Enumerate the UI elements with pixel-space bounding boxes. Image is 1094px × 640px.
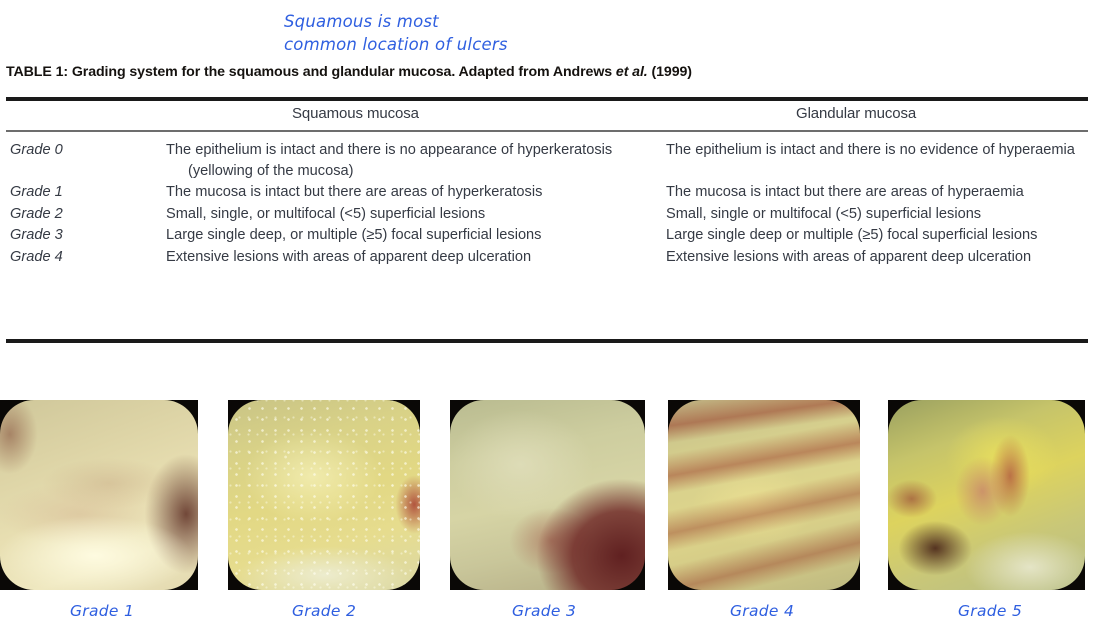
glandular-description: Small, single or multifocal (<5) superfi… [666,204,1088,225]
table-caption-etal: et al. [616,64,648,80]
grade-label: Grade 4 [6,247,166,268]
squamous-description: Small, single, or multifocal (<5) superf… [166,204,666,225]
table-body: Grade 0 The epithelium is intact and the… [6,140,1088,268]
grade-label: Grade 3 [6,225,166,246]
grade-label: Grade 0 [6,140,166,161]
glandular-description: The epithelium is intact and there is no… [666,140,1088,161]
table-caption-suffix: (1999) [648,64,692,80]
figure-label-grade-3: Grade 3 [512,602,576,620]
squamous-description: The mucosa is intact but there are areas… [166,182,666,203]
table-row: Grade 0 The epithelium is intact and the… [6,140,1088,181]
column-header-glandular: Glandular mucosa [796,105,916,122]
figure-grade-labels: Grade 1 Grade 2 Grade 3 Grade 4 Grade 5 [0,602,1094,632]
hyperkeratosis-speckles [228,400,420,590]
glandular-description: Extensive lesions with areas of apparent… [666,247,1088,268]
table-row: Grade 3 Large single deep, or multiple (… [6,225,1088,246]
squamous-description: The epithelium is intact and there is no… [166,140,666,181]
endoscopy-grade-1 [0,400,198,590]
endoscopy-grade-4 [668,400,860,590]
table-caption: TABLE 1: Grading system for the squamous… [6,64,692,80]
glandular-description: Large single deep or multiple (≥5) focal… [666,225,1088,246]
endoscopy-grade-2 [228,400,420,590]
endoscopy-grade-5 [888,400,1085,590]
table-rule-bottom [6,339,1088,343]
squamous-description: Extensive lesions with areas of apparent… [166,247,666,268]
endoscopy-image-content [450,400,645,590]
endoscopy-image-content [228,400,420,590]
squamous-description: Large single deep, or multiple (≥5) foca… [166,225,666,246]
table-rule-header [6,130,1088,132]
table-row: Grade 4 Extensive lesions with areas of … [6,247,1088,268]
endoscopy-image-content [668,400,860,590]
column-header-squamous: Squamous mucosa [292,105,419,122]
handwritten-annotation: Squamous is most common location of ulce… [284,10,508,56]
figure-label-grade-5: Grade 5 [958,602,1022,620]
grade-label: Grade 1 [6,182,166,203]
table-row: Grade 2 Small, single, or multifocal (<5… [6,204,1088,225]
glandular-description: The mucosa is intact but there are areas… [666,182,1088,203]
figure-label-grade-4: Grade 4 [730,602,794,620]
table-caption-prefix: TABLE 1: Grading system for the squamous… [6,64,616,80]
grade-label: Grade 2 [6,204,166,225]
endoscopy-image-content [0,400,198,590]
table-header-row: Squamous mucosa Glandular mucosa [6,105,1088,129]
endoscopy-image-strip [0,400,1094,590]
table-rule-top [6,97,1088,101]
figure-label-grade-1: Grade 1 [70,602,134,620]
figure-label-grade-2: Grade 2 [292,602,356,620]
endoscopy-image-content [888,400,1085,590]
endoscopy-grade-3 [450,400,645,590]
table-row: Grade 1 The mucosa is intact but there a… [6,182,1088,203]
